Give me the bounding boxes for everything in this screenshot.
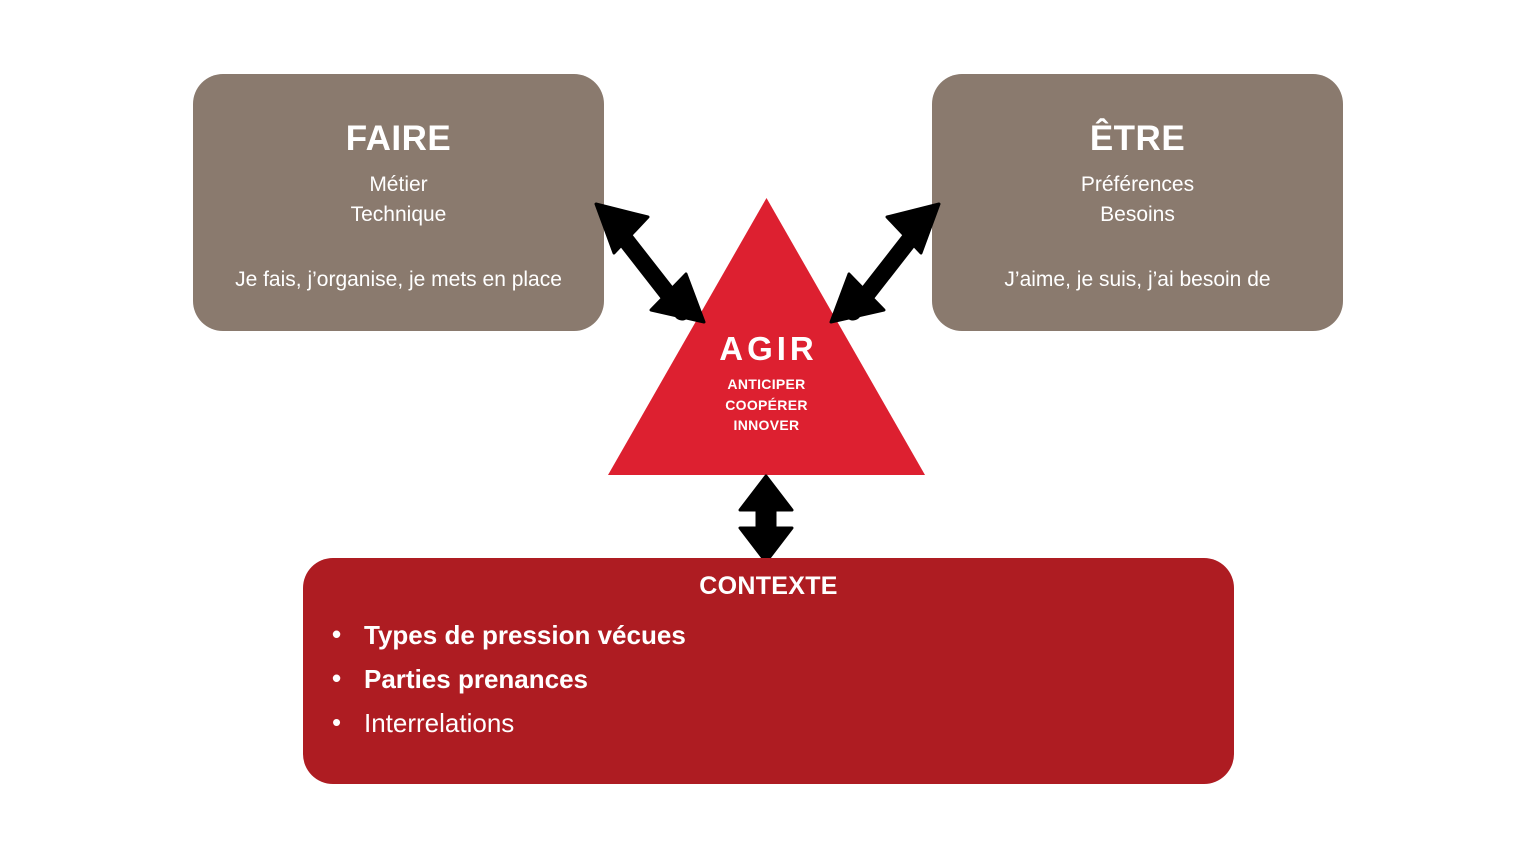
etre-title: ÊTRE [932,74,1343,156]
faire-phrase: Je fais, j’organise, je mets en place [193,230,604,293]
etre-subtitle: Préférences Besoins [932,156,1343,230]
double-arrow-agir-contexte-icon [735,474,797,564]
contexte-bullet-2: Parties prenances [332,657,1234,701]
diagram-canvas: FAIRE Métier Technique Je fais, j’organi… [0,0,1536,864]
contexte-bullet-3: Interrelations [332,701,1234,745]
faire-title: FAIRE [193,74,604,156]
faire-sub-line-1: Métier [369,173,427,196]
contexte-box: CONTEXTE Types de pression vécues Partie… [303,558,1234,784]
etre-box: ÊTRE Préférences Besoins J’aime, je suis… [932,74,1343,331]
contexte-bullet-1: Types de pression vécues [332,613,1234,657]
contexte-bullet-list: Types de pression vécues Parties prenanc… [303,613,1234,746]
faire-sub-line-2: Technique [351,203,447,226]
etre-sub-line-1: Préférences [1081,173,1194,196]
faire-subtitle: Métier Technique [193,156,604,230]
etre-sub-line-2: Besoins [1100,203,1175,226]
faire-box: FAIRE Métier Technique Je fais, j’organi… [193,74,604,331]
double-arrow-etre-agir-icon [827,196,943,330]
double-arrow-faire-agir-icon [592,196,708,330]
etre-phrase: J’aime, je suis, j’ai besoin de [932,230,1343,293]
contexte-title: CONTEXTE [303,558,1234,599]
